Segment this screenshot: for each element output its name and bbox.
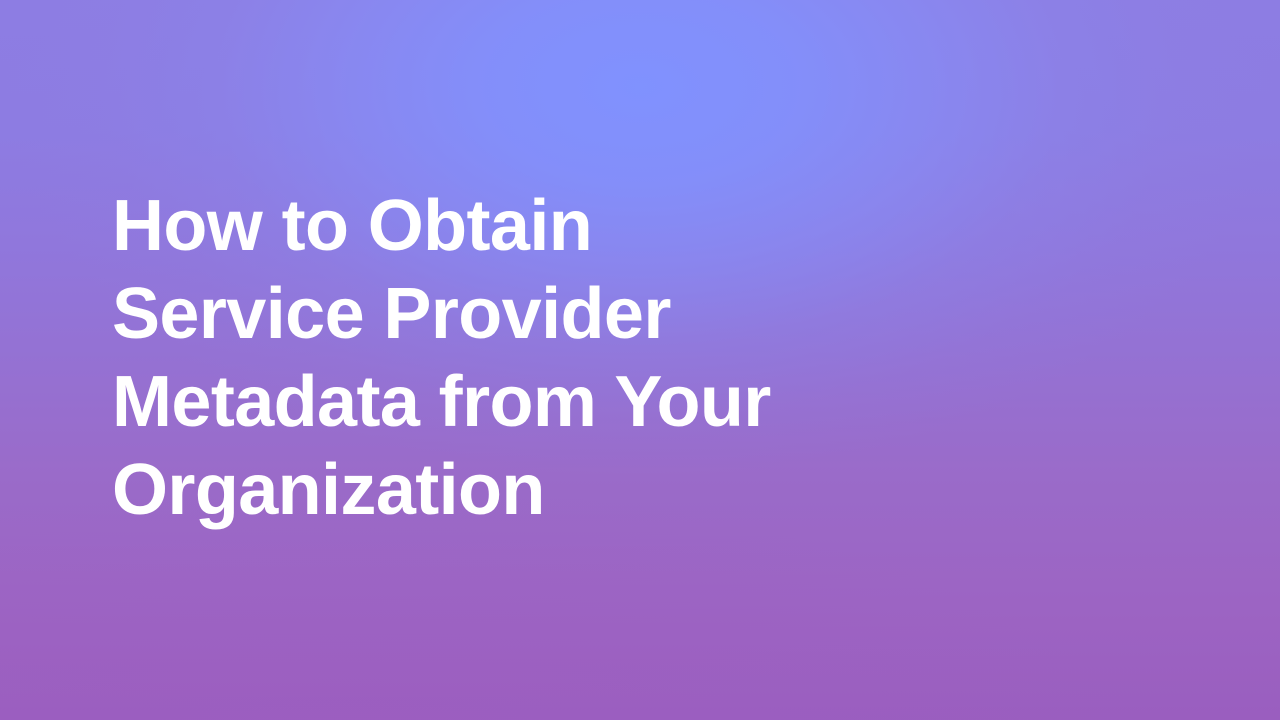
title-slide: How to Obtain Service Provider Metadata … xyxy=(0,0,1280,720)
slide-headline: How to Obtain Service Provider Metadata … xyxy=(112,182,1012,534)
slide-content: How to Obtain Service Provider Metadata … xyxy=(0,0,1280,720)
